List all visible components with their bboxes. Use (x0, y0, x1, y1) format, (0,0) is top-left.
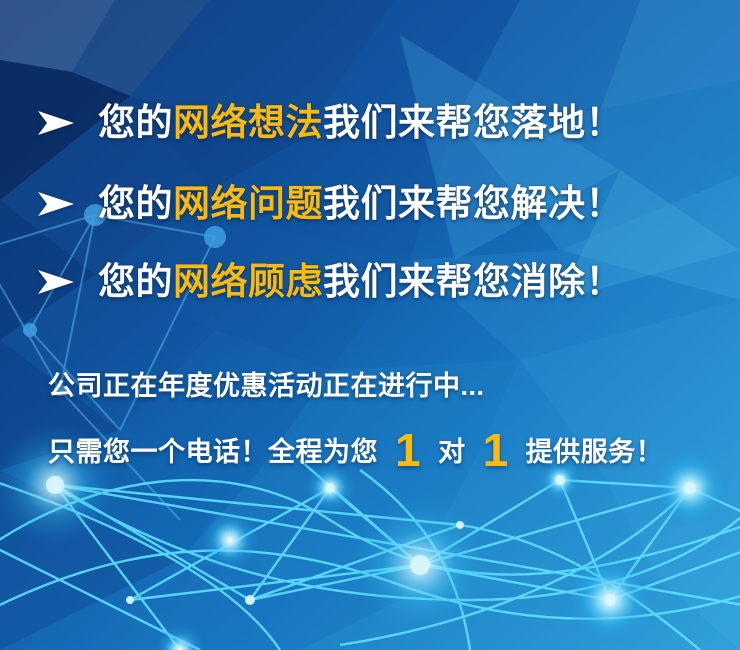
headline-2-pre: 您的 (98, 183, 173, 224)
banner-content: 您的网络想法我们来帮您落地！ 您的网络问题我们来帮您解决！ 您的网络顾虑我们来帮… (0, 0, 740, 650)
arrow-right-icon (36, 267, 76, 297)
arrow-right-icon (36, 189, 76, 219)
headline-3-pre: 您的 (98, 261, 173, 302)
headline-text-1: 您的网络想法我们来帮您落地！ (98, 104, 623, 141)
headline-2-post: 我们来帮您解决！ (323, 183, 623, 224)
headline-2-highlight: 网络问题 (173, 183, 323, 224)
headline-text-2: 您的网络问题我们来帮您解决！ (98, 185, 623, 222)
service-subline-middle: 对 (438, 437, 466, 467)
headline-3-highlight: 网络顾虑 (173, 261, 323, 302)
headline-row-2: 您的网络问题我们来帮您解决！ (36, 185, 623, 222)
headline-1-post: 我们来帮您落地！ (323, 102, 623, 143)
headline-1-pre: 您的 (98, 102, 173, 143)
promo-subline: 公司正在年度优惠活动正在进行中... (48, 364, 485, 403)
headline-1-highlight: 网络想法 (173, 102, 323, 143)
service-subline-part2: 提供服务！ (526, 437, 664, 467)
headline-3-post: 我们来帮您消除！ (323, 261, 623, 302)
promo-banner: 您的网络想法我们来帮您落地！ 您的网络问题我们来帮您解决！ 您的网络顾虑我们来帮… (0, 0, 740, 650)
service-number-second: 1 (478, 424, 514, 476)
headline-row-1: 您的网络想法我们来帮您落地！ (36, 104, 623, 141)
service-subline-part1: 只需您一个电话！全程为您 (48, 437, 378, 467)
headline-text-3: 您的网络顾虑我们来帮您消除！ (98, 263, 623, 300)
arrow-right-icon (36, 108, 76, 138)
headline-row-3: 您的网络顾虑我们来帮您消除！ (36, 263, 623, 300)
service-subline: 只需您一个电话！全程为您1对1提供服务！ (48, 430, 663, 469)
service-number-first: 1 (390, 424, 426, 476)
